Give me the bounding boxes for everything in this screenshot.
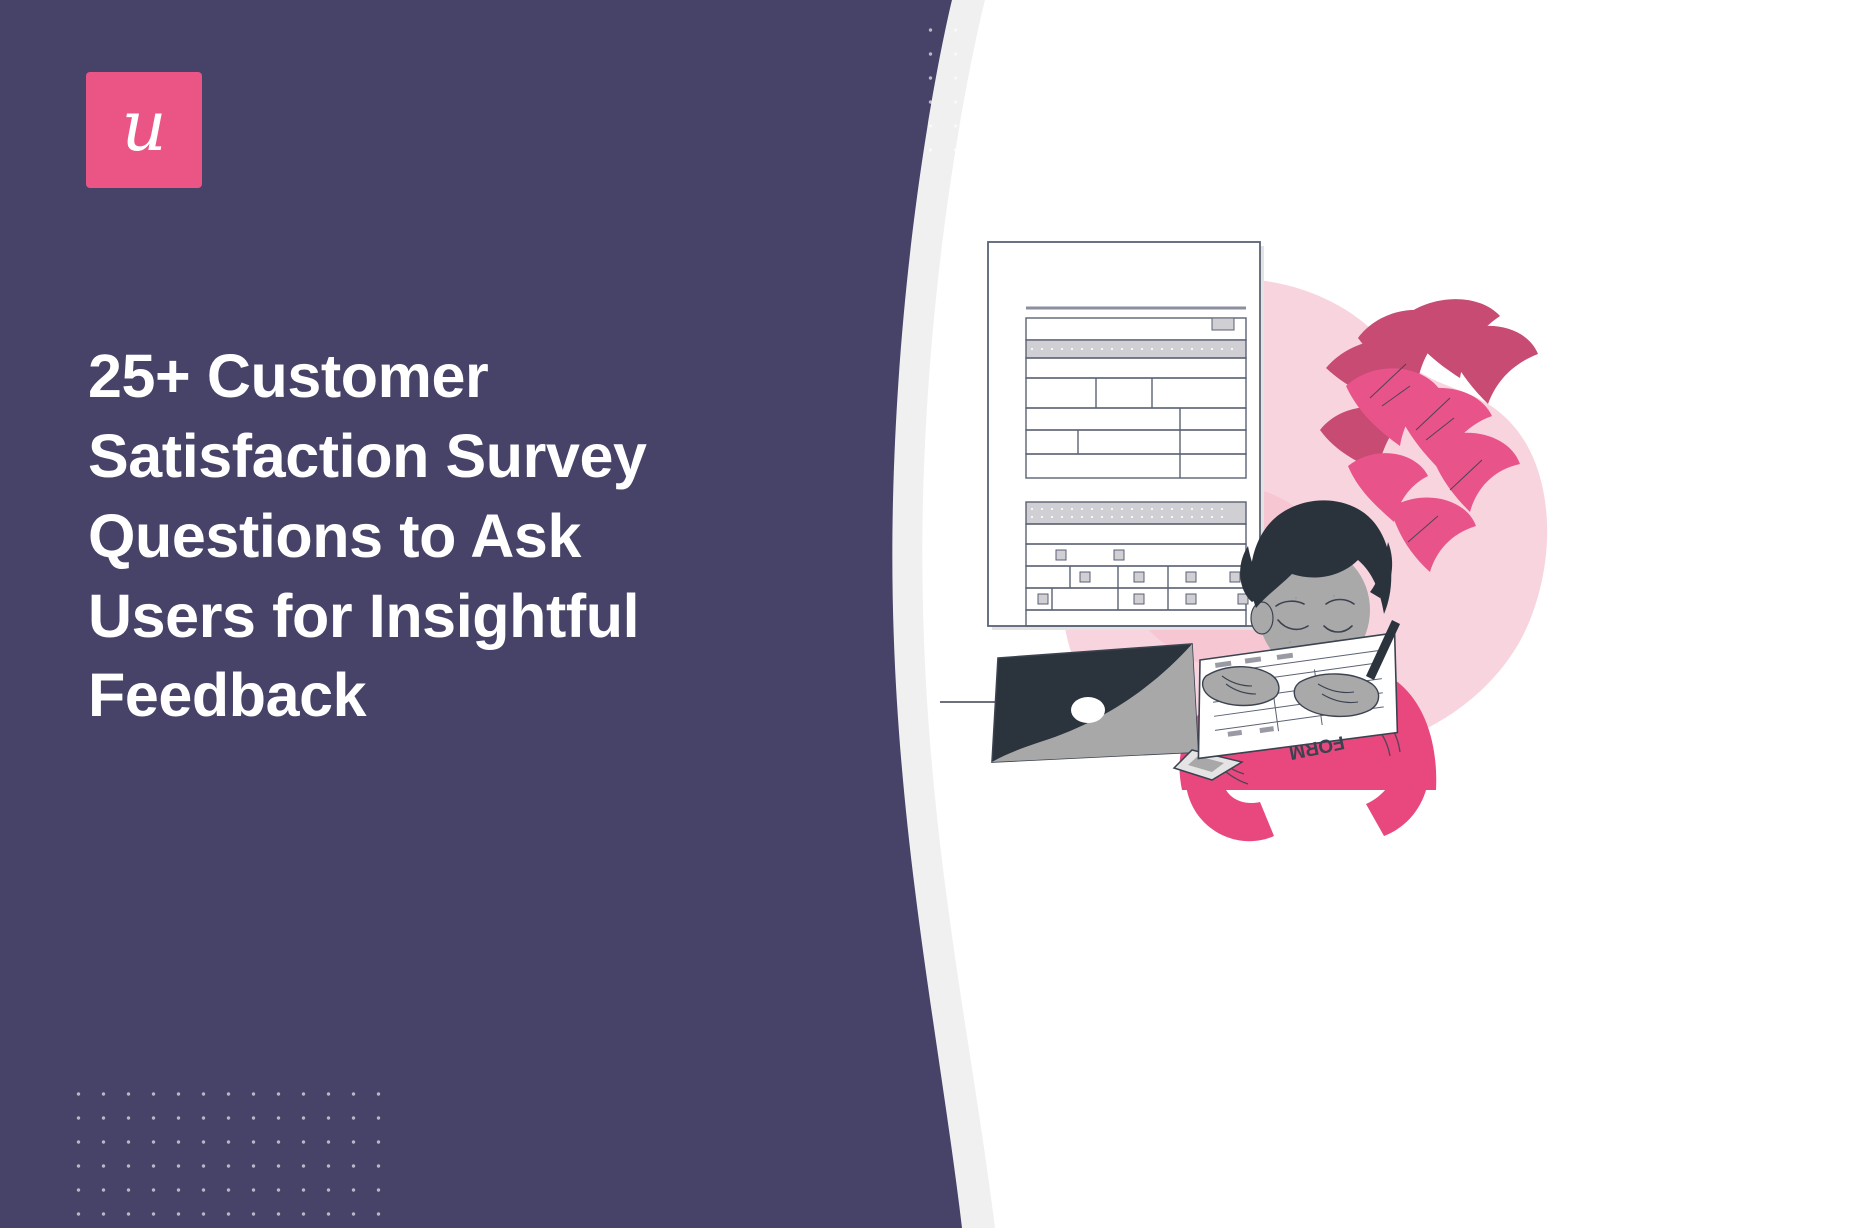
- hero-banner: u 25+ Customer Satisfaction Survey Quest…: [0, 0, 1876, 1228]
- dot-grid-top-right: [918, 18, 1876, 166]
- dot-grid-bottom-left: [66, 1082, 386, 1228]
- illustration-person-filling-survey: FORM: [930, 190, 1570, 850]
- illustration-svg: FORM: [930, 190, 1570, 850]
- survey-document-large: [988, 242, 1264, 630]
- page-title: 25+ Customer Satisfaction Survey Questio…: [88, 337, 728, 737]
- logo-glyph: u: [121, 91, 166, 161]
- userpilot-logo[interactable]: u: [86, 72, 202, 188]
- doc-dot-row-1: [1031, 348, 1233, 350]
